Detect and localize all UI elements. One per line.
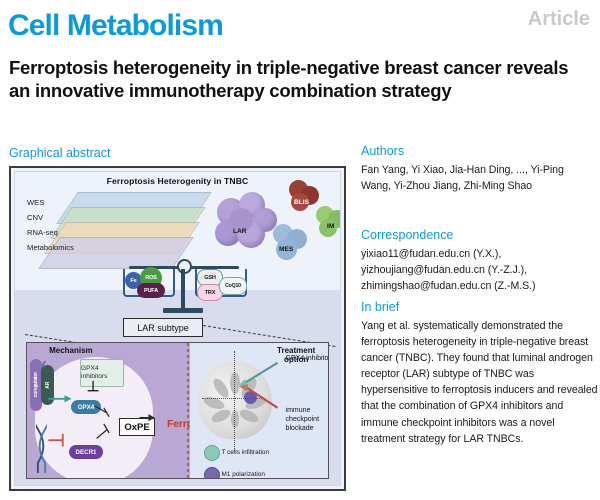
scale-base	[163, 308, 203, 313]
journal-logo: Cell Metabolism	[8, 11, 223, 41]
omics-label-cnv: CNV	[27, 213, 43, 222]
subtype-cluster-mes: MES	[271, 224, 309, 262]
subtype-cluster-blis: BLIS	[287, 180, 321, 214]
graphical-abstract-figure: Ferroptosis Heterogenity in TNBC WES CNV…	[9, 166, 346, 491]
in-brief-text: Yang et al. systematically demonstrated …	[361, 318, 599, 447]
subtype-cluster-lar: LAR	[215, 192, 277, 252]
omics-label-rnaseq: RNA-seq	[27, 228, 58, 237]
correspondence-heading: Correspondence	[361, 228, 453, 242]
omics-label-metabolomics: Metabolomics	[27, 243, 74, 252]
subtype-label-im: IM	[327, 223, 334, 230]
article-page: Cell Metabolism Article Ferroptosis hete…	[0, 0, 600, 500]
molecule-pufa: PUFA	[137, 283, 165, 298]
lower-panel: Mechanism coregulator AR GPX4 inhibitors…	[26, 342, 329, 479]
subtype-label-lar: LAR	[233, 228, 247, 235]
molecule-coq10: CoQ10	[219, 277, 247, 295]
correspondence-text: yixiao11@fudan.edu.cn (Y.X.), yizhoujian…	[361, 246, 596, 294]
checkpoint-blockade-label: immune checkpoint blockade	[286, 407, 329, 433]
ferroptosis-balance-scale: Fe ROS PUFA GSH TRX CoQ10	[123, 258, 245, 320]
scale-post	[181, 269, 185, 309]
article-type-label: Article	[528, 8, 590, 31]
m1-legend-label: M1 polarization	[222, 471, 265, 478]
omics-label-wes: WES	[27, 198, 44, 207]
authors-text: Fan Yang, Yi Xiao, Jia-Han Ding, ..., Yi…	[361, 162, 596, 194]
m1-macrophage-icon	[204, 467, 220, 479]
figure-inner-frame: Ferroptosis Heterogenity in TNBC WES CNV…	[14, 171, 341, 486]
cell-membrane-left	[187, 343, 189, 478]
t-cell-legend-label: T cells infiltration	[222, 449, 269, 456]
subtype-label-blis: BLIS	[294, 199, 309, 206]
gpx4-inhibitors-treatment-label: GPX4 inhibitors	[286, 355, 329, 364]
subtype-label-mes: MES	[279, 246, 293, 253]
authors-heading: Authors	[361, 144, 404, 158]
mechanism-arrows	[27, 343, 190, 478]
treatment-panel: Treatment option	[190, 343, 328, 478]
subtype-cluster-im: IM	[315, 206, 341, 238]
lar-subtype-box: LAR subtype	[123, 318, 203, 337]
page-title: Ferroptosis heterogeneity in triple-nega…	[9, 56, 581, 102]
t-cell-icon	[204, 445, 220, 461]
graphical-abstract-heading: Graphical abstract	[9, 146, 110, 160]
in-brief-heading: In brief	[361, 300, 399, 314]
mechanism-panel: Mechanism coregulator AR GPX4 inhibitors…	[27, 343, 190, 478]
